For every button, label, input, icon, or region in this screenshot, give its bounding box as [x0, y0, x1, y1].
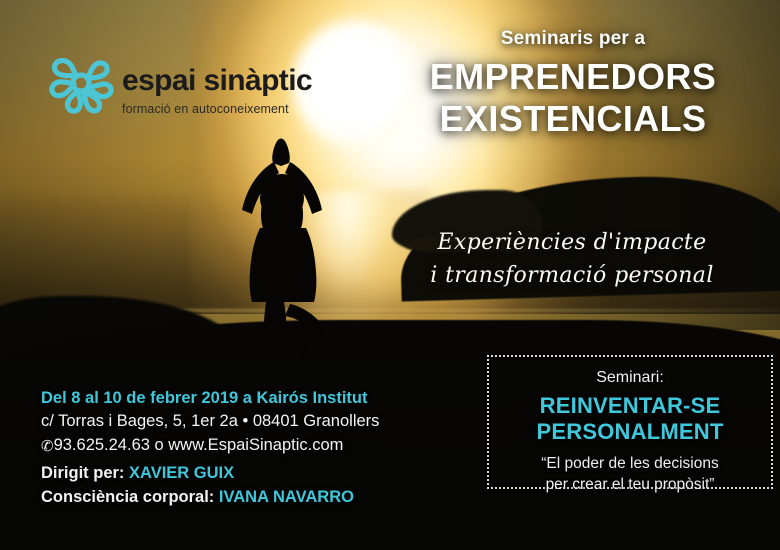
credits-block: Dirigit per: XAVIER GUIX Consciència cor… [41, 462, 354, 510]
seminar-title-line-1: REINVENTAR-SE [489, 393, 771, 419]
headline-main: EMPRENEDORS EXISTENCIALS [408, 56, 738, 140]
credit-name-1: IVANA NAVARRO [219, 488, 354, 506]
headline-line-2: EXISTENCIALS [408, 98, 738, 140]
brand-logo: espai sinàptic formació en autoconeixeme… [44, 44, 312, 120]
headline-kicker: Seminaris per a [408, 28, 738, 50]
seminar-quote: “El poder de les decisions per crear el … [489, 454, 771, 495]
contact-text: 93.625.24.63 o www.EspaiSinaptic.com [54, 436, 344, 454]
script-line-1: Experiències d'impacte [422, 226, 722, 259]
seminar-quote-line-2: per crear el teu propòsit” [489, 475, 771, 495]
credit-role-0: Dirigit per: [41, 464, 124, 482]
credit-role-1: Consciència corporal: [41, 488, 214, 506]
seminar-title-line-2: PERSONALMENT [489, 419, 771, 445]
telephone-icon: ✆ [41, 438, 54, 455]
logo-wordmark: espai sinàptic formació en autoconeixeme… [122, 48, 312, 116]
script-line-2: i transformació personal [422, 259, 722, 292]
credit-name-0: XAVIER GUIX [129, 464, 234, 482]
event-info-block: Del 8 al 10 de febrer 2019 a Kairós Inst… [41, 387, 379, 457]
headline-block: Seminaris per a EMPRENEDORS EXISTENCIALS [408, 28, 738, 140]
seminar-quote-line-1: “El poder de les decisions [489, 454, 771, 474]
seminar-label: Seminari: [489, 368, 771, 387]
seminar-title: REINVENTAR-SE PERSONALMENT [489, 393, 771, 445]
seminar-highlight-box: Seminari: REINVENTAR-SE PERSONALMENT “El… [487, 355, 773, 489]
event-contact: ✆93.625.24.63 o www.EspaiSinaptic.com [41, 434, 379, 457]
poster: espai sinàptic formació en autoconeixeme… [0, 0, 780, 550]
script-tagline: Experiències d'impacte i transformació p… [422, 226, 722, 293]
event-dates: Del 8 al 10 de febrer 2019 a Kairós Inst… [41, 387, 379, 410]
event-address: c/ Torras i Bages, 5, 1er 2a • 08401 Gra… [41, 410, 379, 433]
credit-body-consciousness: Consciència corporal: IVANA NAVARRO [41, 486, 354, 510]
neuron-synapse-icon [44, 44, 118, 120]
logo-tagline: formació en autoconeixement [122, 103, 312, 116]
headline-line-1: EMPRENEDORS [408, 56, 738, 98]
logo-name: espai sinàptic [122, 66, 312, 96]
yoga-figure-silhouette [206, 138, 356, 368]
credit-director: Dirigit per: XAVIER GUIX [41, 462, 354, 486]
